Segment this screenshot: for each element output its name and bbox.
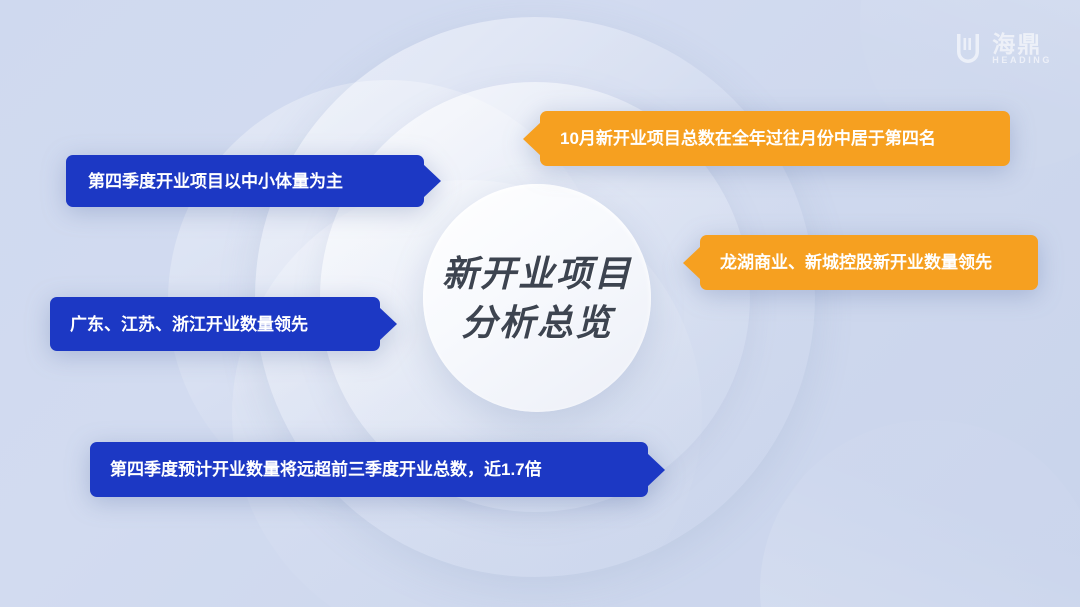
brand-logo: 海鼎 HEADING bbox=[953, 32, 1052, 66]
callout-q4-project-scale-label: 第四季度开业项目以中小体量为主 bbox=[88, 173, 343, 190]
brand-name-en: HEADING bbox=[992, 56, 1052, 66]
slide-canvas: 新开业项目 分析总览 第四季度开业项目以中小体量为主 10月新开业项目总数在全年… bbox=[0, 0, 1080, 607]
callout-q4-forecast-label: 第四季度预计开业数量将远超前三季度开业总数，近1.7倍 bbox=[110, 461, 542, 478]
callout-october-ranking[interactable]: 10月新开业项目总数在全年过往月份中居于第四名 bbox=[540, 111, 1010, 166]
decorative-circle-bottom-right bbox=[760, 420, 1080, 607]
page-title: 新开业项目 分析总览 bbox=[423, 184, 651, 412]
callout-leading-developers[interactable]: 龙湖商业、新城控股新开业数量领先 bbox=[700, 235, 1038, 290]
decorative-circle-bottom bbox=[232, 180, 702, 607]
heading-logo-mark-icon bbox=[953, 32, 983, 66]
brand-name-cn: 海鼎 bbox=[992, 32, 1042, 56]
callout-leading-developers-label: 龙湖商业、新城控股新开业数量领先 bbox=[720, 254, 992, 271]
brand-logo-text: 海鼎 HEADING bbox=[992, 32, 1052, 66]
callout-leading-provinces[interactable]: 广东、江苏、浙江开业数量领先 bbox=[50, 297, 380, 351]
callout-october-ranking-label: 10月新开业项目总数在全年过往月份中居于第四名 bbox=[560, 130, 936, 147]
page-title-line-2: 分析总览 bbox=[461, 300, 613, 345]
callout-q4-forecast[interactable]: 第四季度预计开业数量将远超前三季度开业总数，近1.7倍 bbox=[90, 442, 648, 497]
callout-leading-provinces-label: 广东、江苏、浙江开业数量领先 bbox=[70, 316, 308, 333]
page-title-line-1: 新开业项目 bbox=[442, 251, 632, 296]
center-circle bbox=[423, 184, 651, 412]
callout-q4-project-scale[interactable]: 第四季度开业项目以中小体量为主 bbox=[66, 155, 424, 207]
